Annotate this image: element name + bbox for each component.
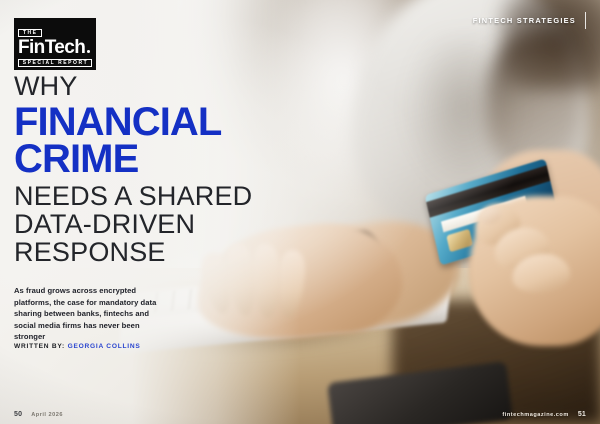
byline-label: WRITTEN BY: (14, 343, 65, 350)
logo-dot-icon (87, 50, 90, 53)
fintech-magazine-logo: THE FinTech SPECIAL REPORT (14, 18, 96, 70)
article-byline: WRITTEN BY: GEORGIA COLLINS (14, 343, 141, 350)
byline-author: GEORGIA COLLINS (68, 343, 141, 350)
magazine-spread: FINTECH STRATEGIES THE FinTech SPECIAL R… (0, 0, 600, 424)
section-kicker-label: FINTECH STRATEGIES (473, 16, 576, 25)
logo-wordmark-text: FinTech (18, 39, 85, 57)
logo-special-report-label: SPECIAL REPORT (18, 59, 92, 67)
logo-the-label: THE (18, 29, 42, 37)
kicker-divider (585, 12, 586, 29)
headline-line-3-crime: CRIME (14, 141, 252, 178)
page-number-right: 51 (578, 411, 586, 418)
page-footer: 50 April 2026 fintechmagazine.com 51 (0, 402, 600, 418)
logo-wordmark: FinTech (18, 39, 92, 57)
page-number-left: 50 (14, 411, 22, 418)
section-kicker: FINTECH STRATEGIES (473, 12, 586, 29)
issue-date: April 2026 (31, 412, 63, 418)
headline-line-2-financial: FINANCIAL (14, 104, 252, 141)
headline-line-6: RESPONSE (14, 239, 252, 266)
website-url: fintechmagazine.com (502, 412, 568, 418)
footer-left: 50 April 2026 (14, 411, 63, 418)
headline-subline-group: NEEDS A SHARED DATA-DRIVEN RESPONSE (14, 183, 252, 265)
article-standfirst: As fraud grows across encrypted platform… (14, 285, 160, 343)
footer-right: fintechmagazine.com 51 (502, 411, 586, 418)
headline-line-1: WHY (14, 73, 252, 100)
headline-line-4: NEEDS A SHARED (14, 183, 252, 210)
article-headline: WHY FINANCIAL CRIME NEEDS A SHARED DATA-… (14, 73, 252, 266)
headline-line-5: DATA-DRIVEN (14, 211, 252, 238)
